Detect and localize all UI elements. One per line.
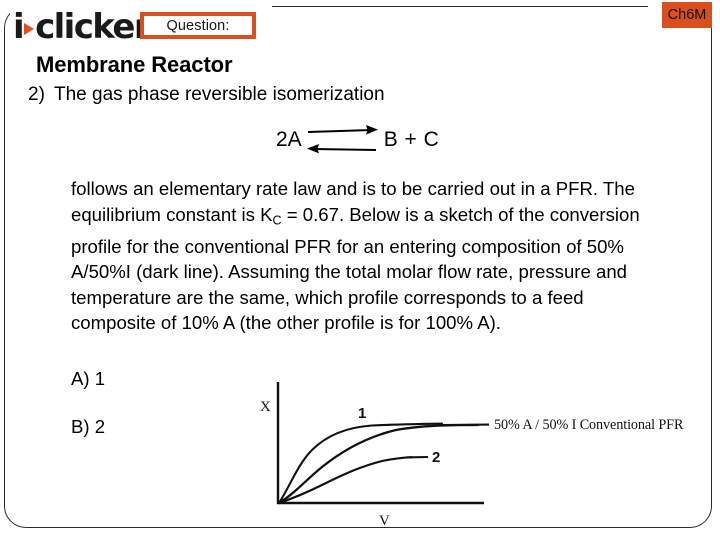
chemical-equation: 2A B + C <box>276 123 439 157</box>
question-label-box: Question: <box>140 12 256 39</box>
x-axis-label: V <box>379 513 390 529</box>
chapter-badge: Ch6M <box>662 2 712 28</box>
play-triangle-icon <box>24 23 34 35</box>
conventional-pfr-annotation: 50% A / 50% I Conventional PFR <box>494 417 684 433</box>
chapter-badge-text: Ch6M <box>668 7 707 23</box>
answer-option-a[interactable]: A) 1 <box>71 368 105 390</box>
slide-canvas: i clicker Question: Ch6M Membrane Reacto… <box>0 0 720 540</box>
question-number: 2) <box>28 84 54 106</box>
question-stem: 2) The gas phase reversible isomerizatio… <box>28 84 668 106</box>
equation-product: B + C <box>382 128 440 152</box>
answer-option-b[interactable]: B) 2 <box>71 416 105 438</box>
kc-subscript: C <box>273 213 282 227</box>
question-label-text: Question: <box>167 18 230 34</box>
question-stem-text: The gas phase reversible isomerization <box>54 84 668 106</box>
question-body-paragraph: follows an elementary rate law and is to… <box>71 176 667 336</box>
iclicker-logo: i clicker <box>13 9 149 45</box>
logo-letter-i: i <box>13 10 23 44</box>
equation-reactant: 2A <box>276 128 304 152</box>
equilibrium-arrows-icon <box>306 123 380 157</box>
curve-2-label: 2 <box>432 449 440 466</box>
page-title: Membrane Reactor <box>36 52 232 78</box>
curve-1-path <box>279 424 442 503</box>
curve-1-label: 1 <box>358 405 366 422</box>
curve-2-path <box>279 457 412 503</box>
y-axis-label: X <box>260 399 271 415</box>
logo-wordmark: clicker <box>35 10 149 44</box>
conversion-profile-figure: X V 1 2 50% A / 50% I Conventional PFR <box>246 382 706 530</box>
